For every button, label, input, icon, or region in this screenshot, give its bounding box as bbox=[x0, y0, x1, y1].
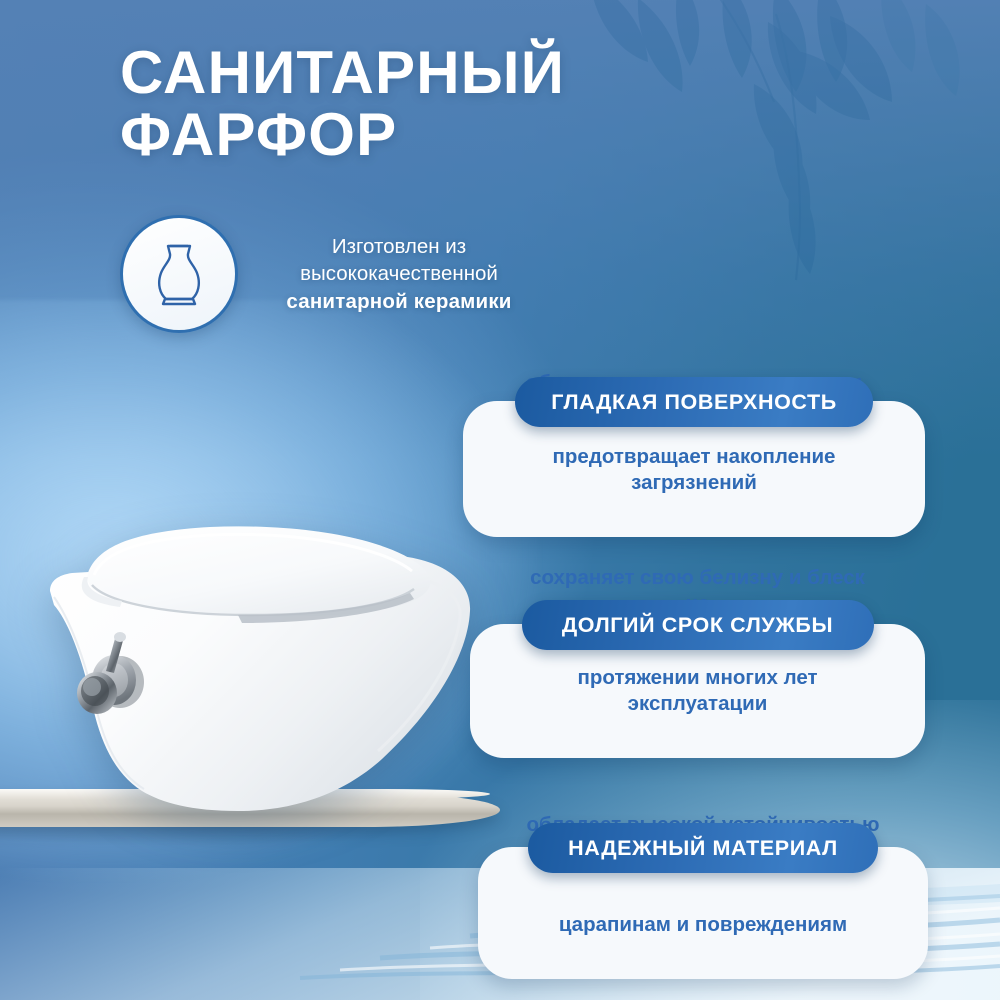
headline-line-2: ФАРФОР bbox=[120, 104, 740, 166]
material-badge: Изготовлен из высококачественной санитар… bbox=[120, 215, 534, 333]
badge-text: Изготовлен из высококачественной санитар… bbox=[264, 233, 534, 315]
badge-line-1: Изготовлен из bbox=[332, 235, 466, 258]
feature-card-reliable-material[interactable]: НАДЕЖНЫЙ МАТЕРИАЛ обладает высокой устой… bbox=[478, 823, 928, 979]
poster-canvas: САНИТАРНЫЙ ФАРФОР Изготовлен из высокока… bbox=[0, 0, 1000, 1000]
page-title: САНИТАРНЫЙ ФАРФОР bbox=[120, 42, 740, 167]
feature-card-title: НАДЕЖНЫЙ МАТЕРИАЛ bbox=[528, 823, 878, 873]
product-image-toilet bbox=[42, 515, 492, 835]
feature-card-title: ДОЛГИЙ СРОК СЛУЖБЫ bbox=[522, 600, 874, 650]
badge-line-3: санитарной керамики bbox=[286, 290, 511, 313]
feature-card-title: ГЛАДКАЯ ПОВЕРХНОСТЬ bbox=[515, 377, 873, 427]
feature-card-line-2: предотвращает накопление загрязнений bbox=[487, 444, 901, 517]
headline-line-1: САНИТАРНЫЙ bbox=[120, 39, 565, 106]
vase-icon bbox=[150, 241, 208, 307]
feature-card-long-service-life[interactable]: ДОЛГИЙ СРОК СЛУЖБЫ сохраняет свою белизн… bbox=[470, 600, 925, 758]
feature-card-line-2: протяжении многих лет эксплуатации bbox=[494, 665, 901, 738]
badge-circle bbox=[120, 215, 238, 333]
badge-line-2: высококачественной bbox=[300, 262, 498, 285]
feature-card-line-2: царапинам и повреждениям bbox=[502, 912, 904, 959]
feature-card-smooth-surface[interactable]: ГЛАДКАЯ ПОВЕРХНОСТЬ обеспечивает легкост… bbox=[463, 377, 925, 537]
